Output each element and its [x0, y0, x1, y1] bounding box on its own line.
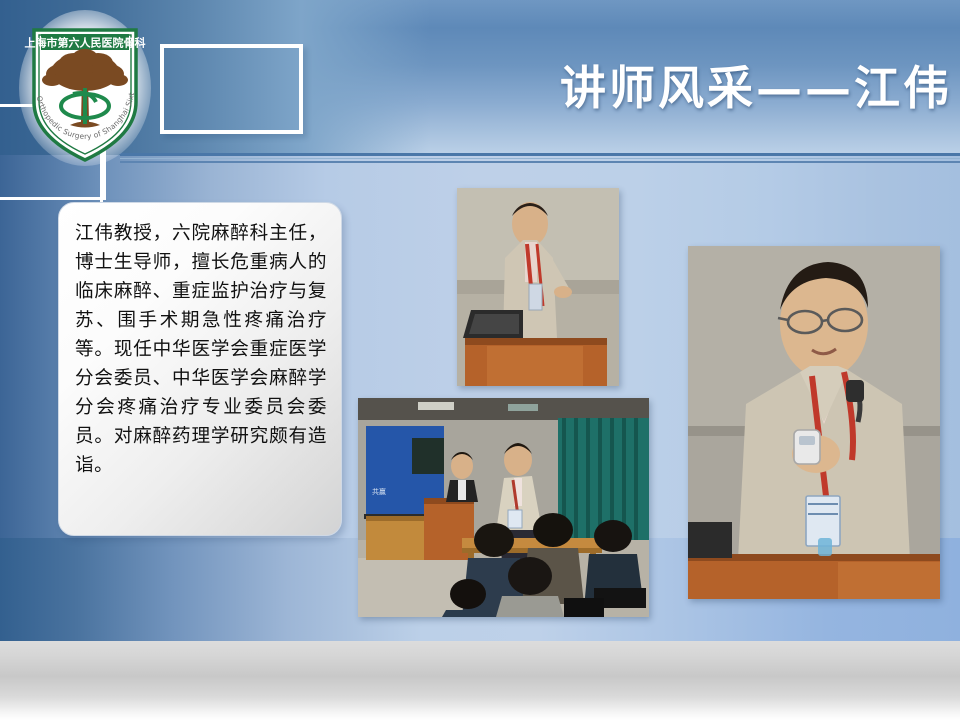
- slide-footer-band: [0, 641, 960, 720]
- speaker-bio-text: 江伟教授，六院麻醉科主任，博士生导师，擅长危重病人的临床麻醉、重症监护治疗与复苏…: [75, 219, 327, 480]
- page-title: 讲师风采——江伟: [560, 52, 952, 118]
- photo-speaker-at-podium: [457, 188, 619, 386]
- photo-speaker-portrait: [688, 246, 940, 599]
- header-divider-rule-light: [120, 158, 960, 159]
- decorative-frame-top: [160, 44, 303, 134]
- svg-text:共赢: 共赢: [372, 487, 386, 496]
- speaker-bio-callout: 江伟教授，六院麻醉科主任，博士生导师，擅长危重病人的临床麻醉、重症监护治疗与复苏…: [58, 202, 342, 536]
- header-divider-rule-secondary: [120, 161, 960, 163]
- photo-conference-room: 共赢: [358, 398, 649, 617]
- hospital-logo-icon: 上海市第六人民医院骨科 Orth: [18, 8, 152, 172]
- presentation-slide: 上海市第六人民医院骨科 Orth: [0, 0, 960, 720]
- logo-banner-text: 上海市第六人民医院骨科: [25, 36, 146, 50]
- header-divider-rule-primary: [120, 153, 960, 156]
